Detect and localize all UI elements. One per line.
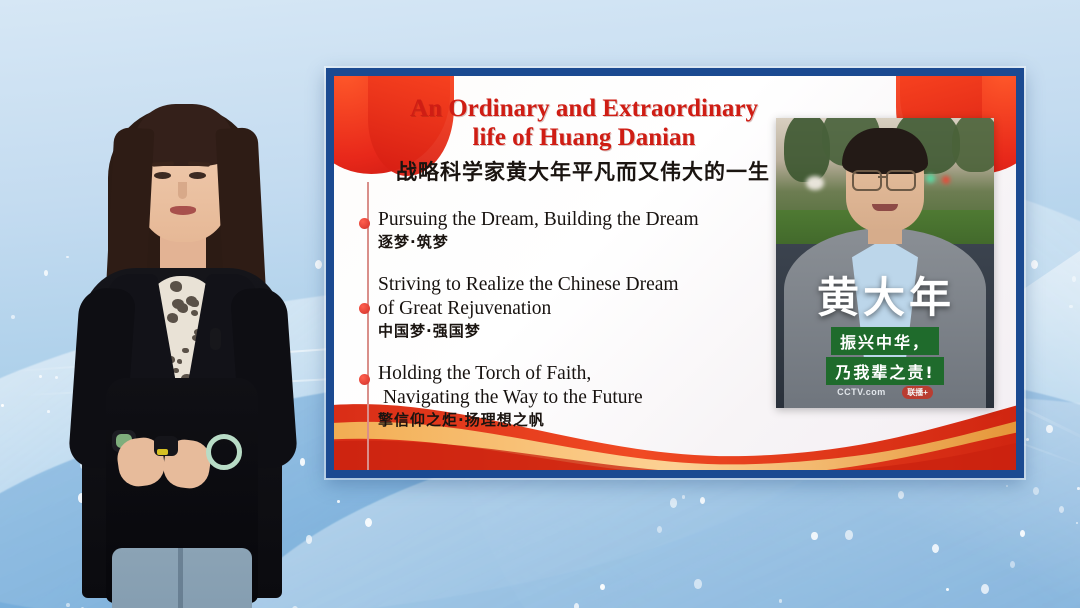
list-item: Pursuing the Dream, Building the Dream 逐… bbox=[378, 208, 778, 253]
list-item: Striving to Realize the Chinese Dream of… bbox=[378, 273, 778, 342]
huang-danian-photo-card: 黄大年 振兴中华， 乃我辈之责! CCTV.com 联播+ bbox=[776, 118, 994, 408]
slide-title-english: An Ordinary and Extraordinary life of Hu… bbox=[374, 94, 794, 152]
video-frame: An Ordinary and Extraordinary life of Hu… bbox=[0, 0, 1080, 608]
list-item: Holding the Torch of Faith, Navigating t… bbox=[378, 362, 778, 431]
bullet-dot-icon bbox=[359, 374, 370, 385]
lianbo-logo: 联播+ bbox=[902, 386, 933, 399]
glasses-icon bbox=[852, 170, 882, 191]
slide-top-glow bbox=[589, 68, 789, 74]
presentation-slide[interactable]: An Ordinary and Extraordinary life of Hu… bbox=[326, 68, 1024, 478]
presenter-figure bbox=[60, 78, 305, 608]
broadcaster-logos: CCTV.com 联播+ bbox=[776, 382, 994, 400]
bullet-list: Pursuing the Dream, Building the Dream 逐… bbox=[378, 208, 778, 451]
bullet-dot-icon bbox=[359, 218, 370, 229]
presenter-clicker bbox=[154, 436, 178, 456]
slide-title-chinese: 战略科学家黄大年平凡而又伟大的一生 bbox=[368, 156, 798, 186]
bullet-dot-icon bbox=[359, 303, 370, 314]
jade-bangle bbox=[206, 434, 242, 470]
calligraphy-name: 黄大年 bbox=[788, 264, 984, 325]
cctv-logo: CCTV.com bbox=[837, 387, 886, 397]
slogan-banner: 振兴中华， 乃我辈之责! bbox=[776, 326, 994, 386]
slide-bottom-glow bbox=[764, 472, 984, 478]
lapel-mic-icon bbox=[210, 328, 221, 350]
